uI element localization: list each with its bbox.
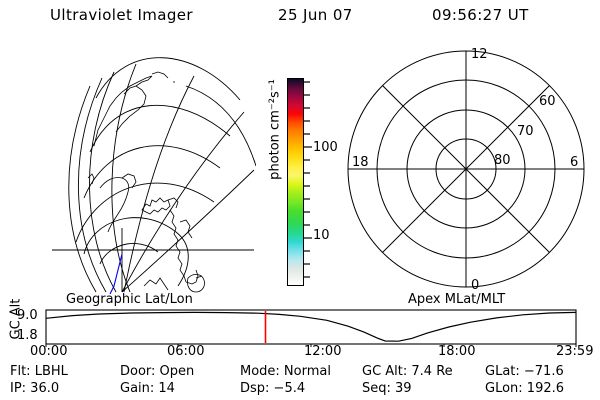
observation-date: 25 Jun 07 [278,6,353,24]
altitude-trace-line [46,312,576,341]
altitude-ytick-low: 1.8 [17,328,38,343]
ground-track [110,254,122,294]
geographic-projection [18,42,256,294]
status-mode: Mode: Normal [240,364,331,379]
time-tick-0: 00:00 [30,344,67,359]
status-door: Door: Open [120,364,194,379]
observation-time: 09:56:27 UT [432,6,529,24]
status-glon: GLon: 192.6 [485,381,564,396]
colorbar-axis-label: photon cm⁻²s⁻¹ [268,65,283,195]
status-glat: GLat: −71.6 [485,364,564,379]
mlat-label-80: 80 [494,153,511,168]
time-tick-2: 12:00 [304,344,341,359]
status-gc-alt: GC Alt: 7.4 Re [362,364,453,379]
geographic-panel[interactable] [18,42,256,294]
status-filter: Flt: LBHL [10,364,68,379]
instrument-title: Ultraviolet Imager [50,6,193,24]
mlt-label-0: 0 [471,278,479,293]
altitude-trace-plot [0,300,600,358]
colorbar-tick-10: 10 [313,228,330,243]
colorbar-tick-100: 100 [313,140,338,155]
mlt-label-6: 6 [570,155,578,170]
colorbar-gradient [287,78,304,286]
colorbar-ticks [304,78,312,286]
colorbar-group: photon cm⁻²s⁻¹ 100 [256,70,336,295]
status-seq: Seq: 39 [362,381,412,396]
apex-polar-grid: 12 6 0 18 60 70 80 [336,42,596,294]
altitude-frame [46,310,576,344]
apex-panel[interactable]: 12 6 0 18 60 70 80 [336,42,596,294]
mlt-label-18: 18 [352,155,369,170]
mlat-label-70: 70 [517,124,534,139]
time-tick-4: 23:59 [556,344,593,359]
mlat-label-60: 60 [539,94,556,109]
altitude-strip[interactable]: GC Alt 9.0 1.8 00:00 06:00 12:00 18:00 2… [0,300,600,358]
status-bar: Flt: LBHL IP: 36.0 Door: Open Gain: 14 M… [0,364,600,398]
header-bar: Ultraviolet Imager 25 Jun 07 09:56:27 UT [0,6,600,28]
status-dsp: Dsp: −5.4 [240,381,305,396]
uvi-display: Ultraviolet Imager 25 Jun 07 09:56:27 UT [0,0,600,400]
time-tick-1: 06:00 [167,344,204,359]
status-gain: Gain: 14 [120,381,175,396]
altitude-ytick-high: 9.0 [17,308,38,323]
status-ip: IP: 36.0 [10,381,59,396]
time-tick-3: 18:00 [438,344,475,359]
mlt-label-12: 12 [471,47,488,62]
